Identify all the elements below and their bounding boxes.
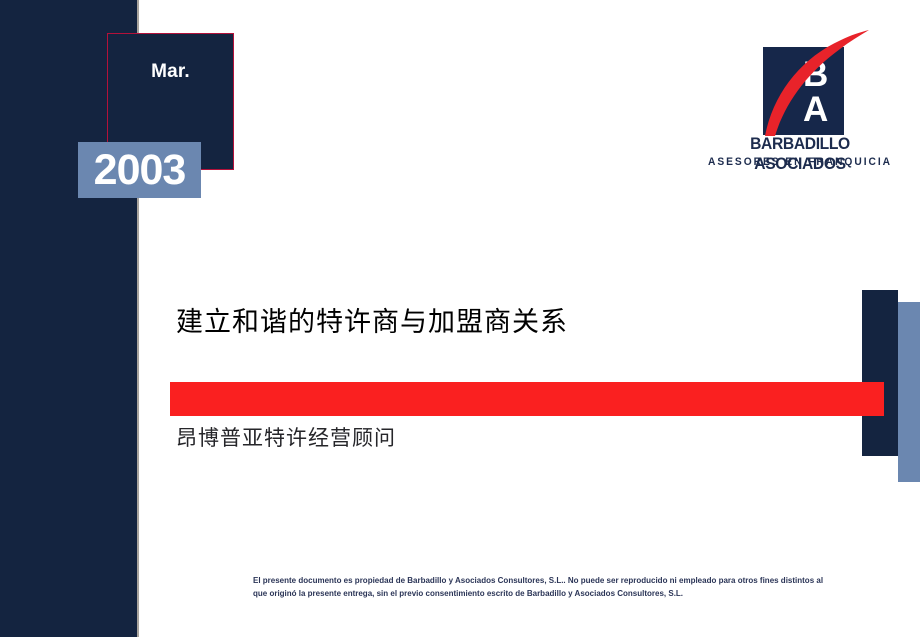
company-logo: B A BARBADILLO ASOCIADOS ASESORES EN FRA… xyxy=(700,28,900,173)
month-label: Mar. xyxy=(107,61,234,83)
logo-swoosh-icon xyxy=(755,28,875,138)
presentation-slide: Mar. 2003 B A BARBADILLO ASOCIADOS ASESO… xyxy=(0,0,920,637)
logo-company-name: BARBADILLO ASOCIADOS xyxy=(708,134,892,174)
red-divider-bar xyxy=(170,382,884,416)
right-navy-box xyxy=(862,290,898,456)
slide-subtitle: 昂博普亚特许经营顾问 xyxy=(176,422,396,452)
slide-title: 建立和谐的特许商与加盟商关系 xyxy=(176,300,568,339)
year-label: 2003 xyxy=(78,146,201,194)
right-slate-bar xyxy=(898,302,920,482)
legal-disclaimer: El presente documento es propiedad de Ba… xyxy=(253,574,835,600)
logo-tagline: ASESORES EN FRANQUICIA xyxy=(707,156,893,168)
logo-mark: B A xyxy=(755,28,875,138)
